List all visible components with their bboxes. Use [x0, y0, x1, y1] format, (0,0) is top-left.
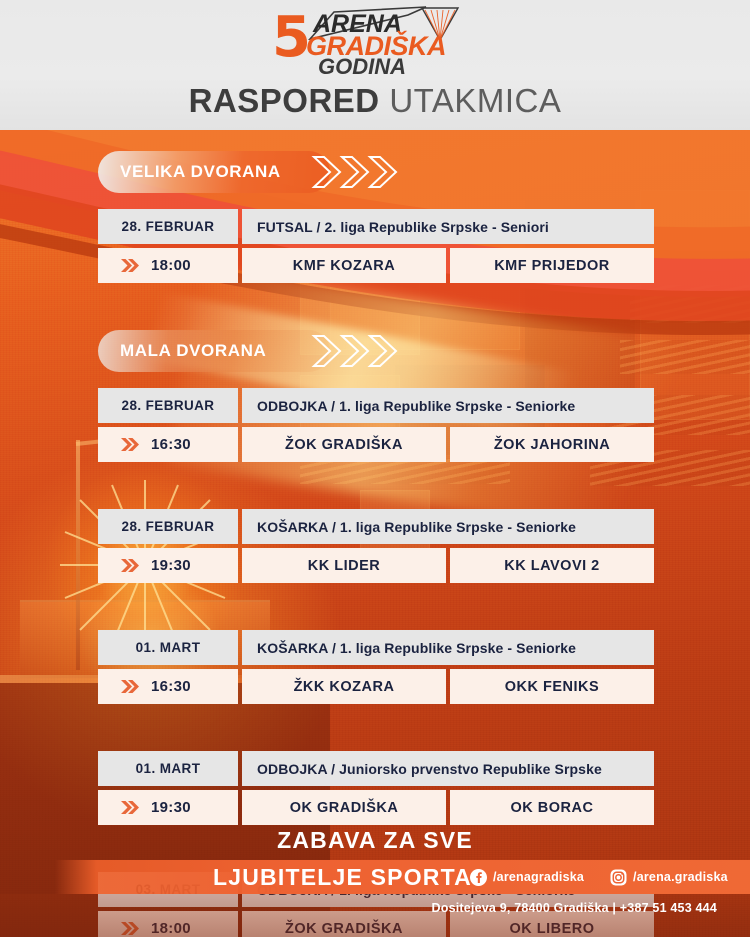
match-away-team: KMF PRIJEDOR — [450, 248, 654, 283]
match-card: 01. MART ODBOJKA / Juniorsko prvenstvo R… — [98, 751, 654, 825]
chevron-double-right-icon — [120, 800, 139, 815]
page-title-bold: RASPORED — [189, 82, 380, 119]
footer: ZABAVA ZA SVE LJUBITELJE SPORTA /arenagr… — [0, 827, 750, 937]
match-time: 16:30 — [151, 678, 191, 695]
match-date: 28. FEBRUAR — [98, 209, 238, 244]
match-away-team: KK LAVOVI 2 — [450, 548, 654, 583]
match-detail-row: 16:30 ŽKK KOZARA OKK FENIKS — [98, 669, 654, 704]
match-date: 01. MART — [98, 751, 238, 786]
match-home-team: ŽKK KOZARA — [242, 669, 446, 704]
match-event: KOŠARKA / 1. liga Republike Srpske - Sen… — [242, 630, 654, 665]
chevron-double-right-icon — [120, 558, 139, 573]
match-time-cell: 18:00 — [98, 248, 238, 283]
match-detail-row: 19:30 KK LIDER KK LAVOVI 2 — [98, 548, 654, 583]
contact-info: Dositejeva 9, 78400 Gradiška | +387 51 4… — [0, 901, 750, 915]
facebook-handle: /arenagradiska — [493, 870, 584, 884]
poster: 5 ARENA GRADIŠKA GODINA RASPORED UTAKMIC… — [0, 0, 750, 937]
chevron-double-right-icon — [120, 258, 139, 273]
match-card: 01. MART KOŠARKA / 1. liga Republike Srp… — [98, 630, 654, 704]
logo-godina: GODINA — [318, 56, 406, 78]
header: 5 ARENA GRADIŠKA GODINA RASPORED UTAKMIC… — [0, 0, 750, 130]
section-title: VELIKA DVORANA — [120, 162, 281, 182]
page-title-light: UTAKMICA — [389, 82, 561, 119]
match-away-team: OKK FENIKS — [450, 669, 654, 704]
match-time-cell: 16:30 — [98, 669, 238, 704]
footer-tagline-1: ZABAVA ZA SVE — [0, 827, 750, 854]
match-time-cell: 16:30 — [98, 427, 238, 462]
match-event: KOŠARKA / 1. liga Republike Srpske - Sen… — [242, 509, 654, 544]
match-header-row: 01. MART KOŠARKA / 1. liga Republike Srp… — [98, 630, 654, 665]
match-home-team: KMF KOZARA — [242, 248, 446, 283]
page-title: RASPORED UTAKMICA — [0, 82, 750, 120]
match-detail-row: 19:30 OK GRADIŠKA OK BORAC — [98, 790, 654, 825]
section-title: MALA DVORANA — [120, 341, 266, 361]
chevron-double-right-icon — [120, 437, 139, 452]
match-time-cell: 19:30 — [98, 548, 238, 583]
facebook-link[interactable]: /arenagradiska — [470, 869, 584, 886]
match-event: ODBOJKA / 1. liga Republike Srpske - Sen… — [242, 388, 654, 423]
match-away-team: ŽOK JAHORINA — [450, 427, 654, 462]
match-detail-row: 18:00 KMF KOZARA KMF PRIJEDOR — [98, 248, 654, 283]
match-time: 18:00 — [151, 257, 191, 274]
match-time-cell: 19:30 — [98, 790, 238, 825]
logo-number: 5 — [272, 10, 309, 66]
section-banner-mala-dvorana: MALA DVORANA — [98, 330, 408, 372]
instagram-handle: /arena.gradiska — [633, 870, 728, 884]
match-header-row: 28. FEBRUAR FUTSAL / 2. liga Republike S… — [98, 209, 654, 244]
section-banner-velika-dvorana: VELIKA DVORANA — [98, 151, 408, 193]
chevron-right-icon-group — [310, 154, 410, 190]
match-away-team: OK BORAC — [450, 790, 654, 825]
match-date: 28. FEBRUAR — [98, 509, 238, 544]
logo: 5 ARENA GRADIŠKA GODINA — [0, 6, 750, 78]
match-card: 28. FEBRUAR FUTSAL / 2. liga Republike S… — [98, 209, 654, 283]
match-event: ODBOJKA / Juniorsko prvenstvo Republike … — [242, 751, 654, 786]
match-detail-row: 16:30 ŽOK GRADIŠKA ŽOK JAHORINA — [98, 427, 654, 462]
chevron-right-icon-group — [310, 333, 410, 369]
match-date: 28. FEBRUAR — [98, 388, 238, 423]
match-time: 19:30 — [151, 799, 191, 816]
match-header-row: 28. FEBRUAR KOŠARKA / 1. liga Republike … — [98, 509, 654, 544]
match-home-team: OK GRADIŠKA — [242, 790, 446, 825]
facebook-icon — [470, 869, 487, 886]
social-links: /arenagradiska /arena.gradiska — [470, 860, 728, 894]
match-event: FUTSAL / 2. liga Republike Srpske - Seni… — [242, 209, 654, 244]
footer-tagline-2: LJUBITELJE SPORTA — [213, 864, 472, 891]
match-time: 16:30 — [151, 436, 191, 453]
chevron-double-right-icon — [120, 679, 139, 694]
match-card: 28. FEBRUAR KOŠARKA / 1. liga Republike … — [98, 509, 654, 583]
match-home-team: KK LIDER — [242, 548, 446, 583]
match-time: 19:30 — [151, 557, 191, 574]
match-header-row: 28. FEBRUAR ODBOJKA / 1. liga Republike … — [98, 388, 654, 423]
match-header-row: 01. MART ODBOJKA / Juniorsko prvenstvo R… — [98, 751, 654, 786]
schedule-content: VELIKA DVORANA 28. FEBRUAR FUTSAL / 2. l… — [0, 130, 750, 937]
instagram-icon — [610, 869, 627, 886]
instagram-link[interactable]: /arena.gradiska — [610, 869, 728, 886]
match-home-team: ŽOK GRADIŠKA — [242, 427, 446, 462]
match-date: 01. MART — [98, 630, 238, 665]
match-card: 28. FEBRUAR ODBOJKA / 1. liga Republike … — [98, 388, 654, 462]
